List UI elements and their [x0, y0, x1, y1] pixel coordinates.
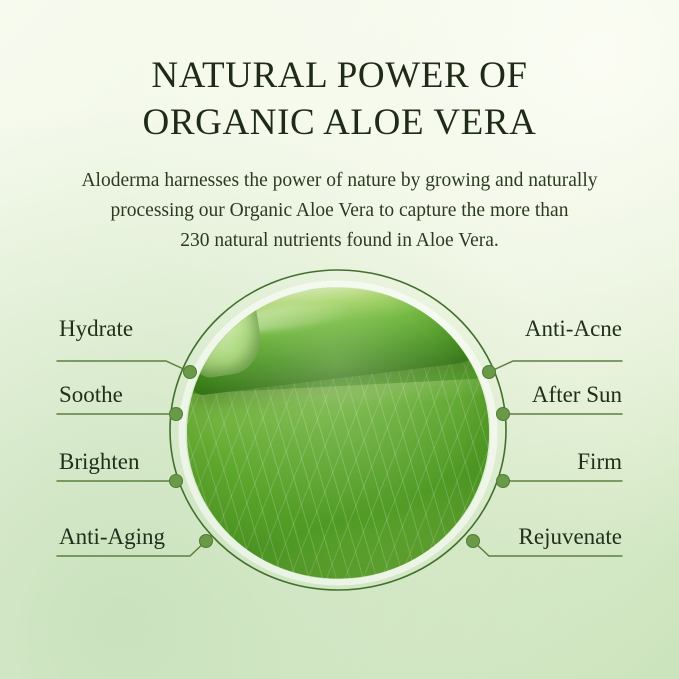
node-dot-soothe [170, 408, 183, 421]
benefits-diagram: Hydrate Soothe Brighten Anti-Aging Anti-… [0, 0, 679, 679]
benefit-label-anti-aging: Anti-Aging [59, 524, 165, 550]
node-dot-firm [497, 475, 510, 488]
benefit-label-rejuvenate: Rejuvenate [519, 524, 622, 550]
node-dot-rejuvenate [467, 535, 480, 548]
node-dot-after-sun [497, 408, 510, 421]
benefit-label-brighten: Brighten [59, 449, 140, 475]
aloe-vera-infographic: NATURAL POWER OF ORGANIC ALOE VERA Alode… [0, 0, 679, 679]
node-dot-anti-aging [200, 535, 213, 548]
node-dot-hydrate [184, 366, 197, 379]
connector-line-hydrate [57, 361, 190, 372]
outer-ring [170, 270, 506, 590]
benefit-label-soothe: Soothe [59, 382, 123, 408]
benefit-label-hydrate: Hydrate [59, 316, 133, 342]
benefit-label-firm: Firm [577, 449, 622, 475]
node-dot-anti-acne [483, 366, 496, 379]
node-dot-brighten [170, 475, 183, 488]
photo-halo-ring [182, 284, 494, 582]
benefit-label-after-sun: After Sun [532, 382, 622, 408]
connector-line-anti-acne [489, 361, 622, 372]
benefit-label-anti-acne: Anti-Acne [525, 316, 622, 342]
